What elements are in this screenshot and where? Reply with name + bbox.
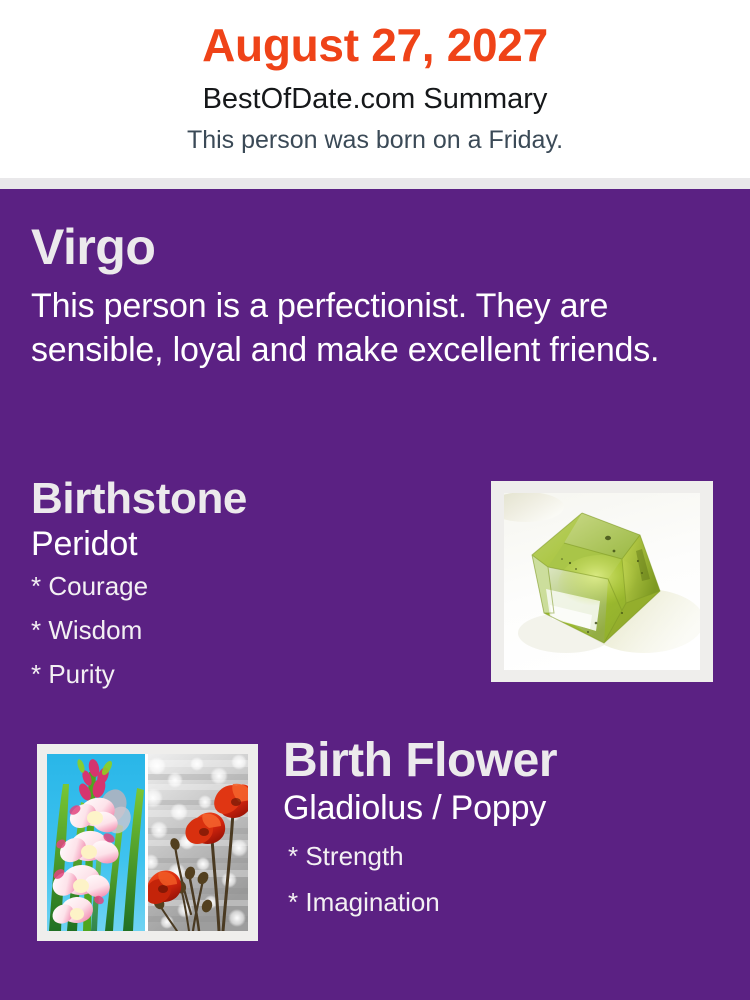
list-item: * Strength (288, 843, 743, 869)
peridot-gemstone-icon (504, 493, 700, 670)
birthstone-image-frame (491, 481, 713, 682)
birthstone-name: Peridot (31, 527, 451, 563)
list-item: * Purity (31, 661, 451, 687)
weekday-statement: This person was born on a Friday. (0, 128, 750, 153)
birth-flower-title: Birth Flower (283, 737, 743, 785)
birthstone-image (504, 493, 700, 670)
birth-flower-image-frame (37, 744, 258, 941)
zodiac-sign-name: Virgo (31, 222, 691, 272)
card-header: August 27, 2027 BestOfDate.com Summary T… (0, 0, 750, 178)
header-divider (0, 178, 750, 189)
birthday-summary-card: August 27, 2027 BestOfDate.com Summary T… (0, 0, 750, 1000)
site-summary-label: BestOfDate.com Summary (0, 85, 750, 114)
list-item: * Imagination (288, 889, 743, 915)
zodiac-description: This person is a perfectionist. They are… (31, 284, 691, 372)
page-title-date: August 27, 2027 (0, 22, 750, 68)
birthstone-trait-list: * Courage * Wisdom * Purity (31, 573, 451, 687)
list-item: * Courage (31, 573, 451, 599)
birth-flower-section: Birth Flower Gladiolus / Poppy * Strengt… (283, 737, 743, 935)
birth-flower-trait-list: * Strength * Imagination (283, 843, 743, 915)
birth-flower-name: Gladiolus / Poppy (283, 791, 743, 827)
gladiolus-poppy-icon (47, 754, 248, 931)
birthstone-section: Birthstone Peridot * Courage * Wisdom * … (31, 477, 451, 705)
birth-flower-image (47, 754, 248, 931)
zodiac-section: Virgo This person is a perfectionist. Th… (31, 222, 691, 372)
list-item: * Wisdom (31, 617, 451, 643)
birthstone-title: Birthstone (31, 477, 451, 521)
